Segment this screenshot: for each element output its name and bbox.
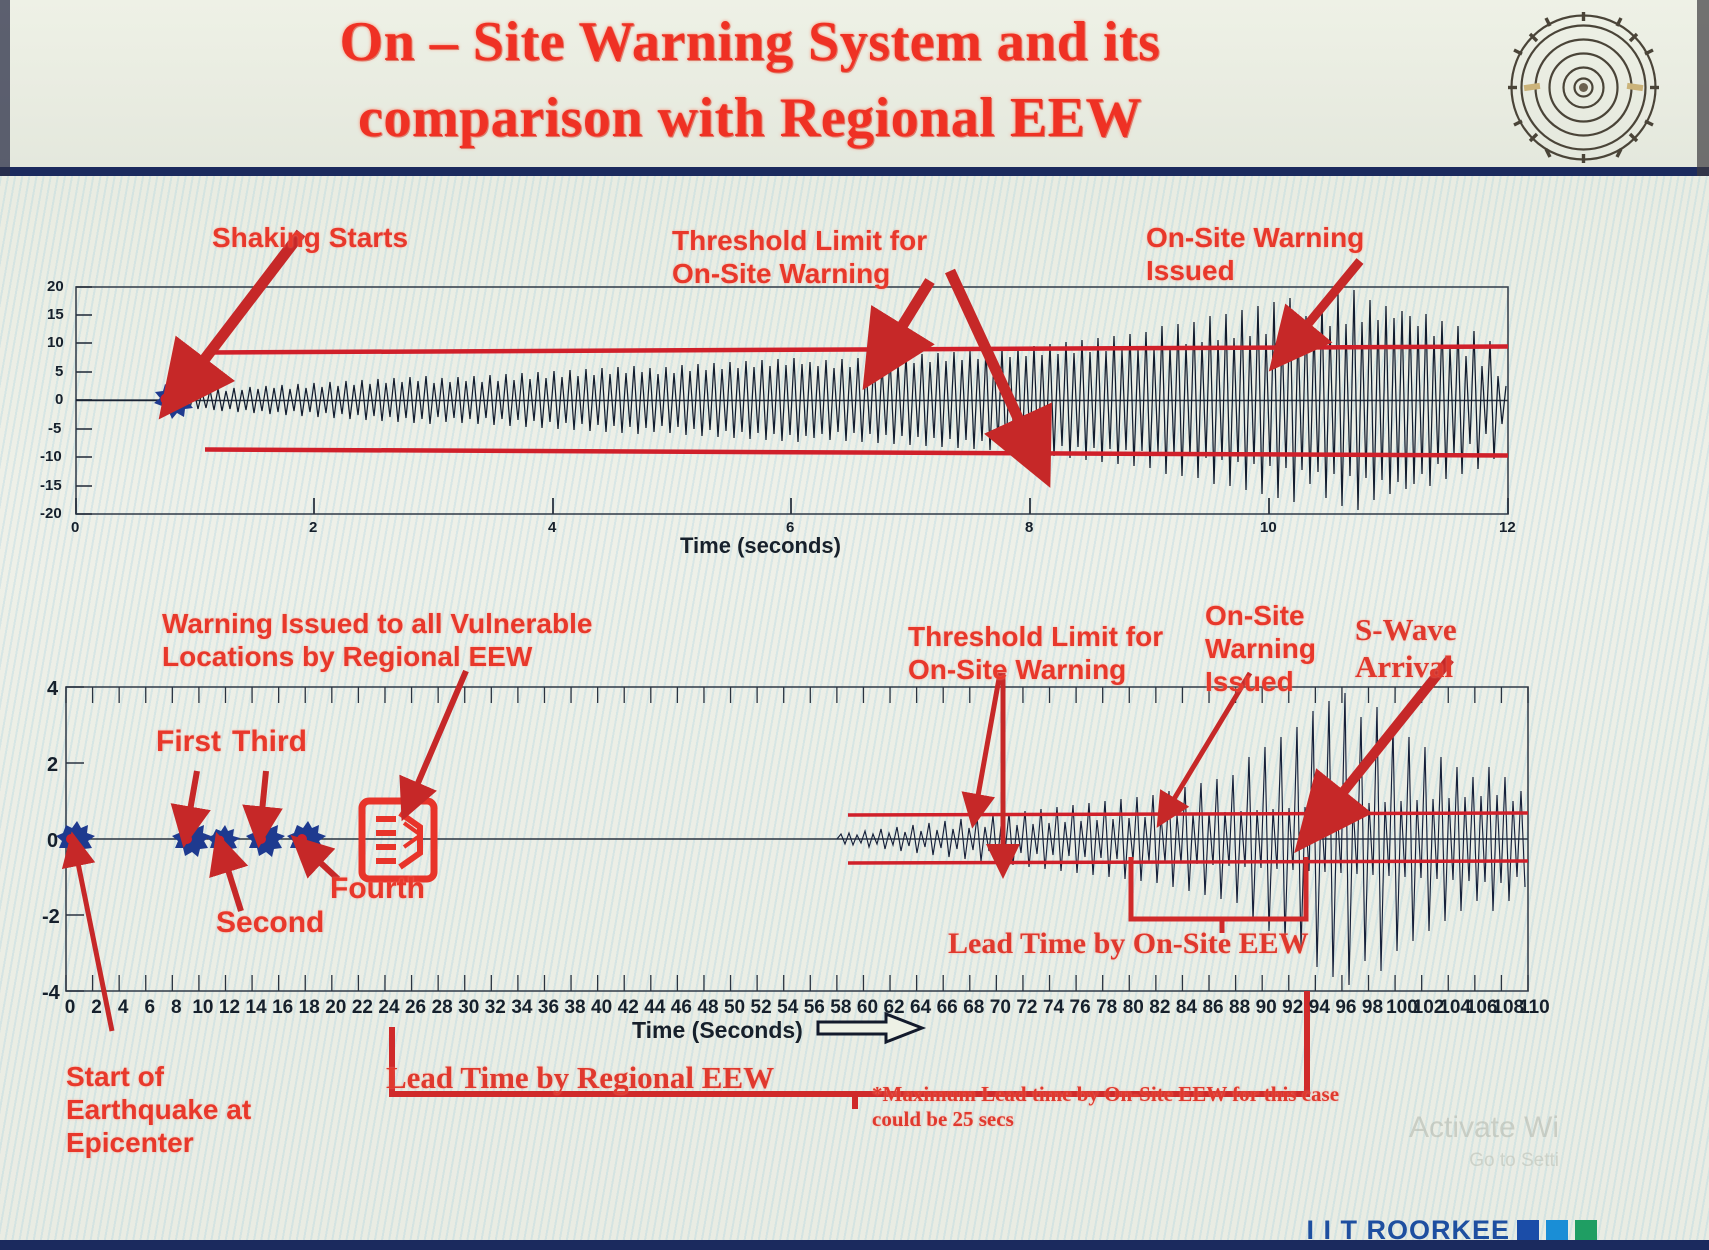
chart2-xaxis-label: Time (Seconds) [632, 1017, 803, 1044]
chart2-xtick-40: 40 [589, 997, 615, 1019]
chart2-xtick-4: 4 [110, 997, 136, 1019]
marker-first [172, 821, 211, 857]
chart2-threshold-upper [848, 813, 1528, 815]
chart2-xtick-76: 76 [1067, 997, 1093, 1019]
annotation-lead-time-onsite: Lead Time by On-Site EEW [948, 926, 1309, 962]
chart1-ytick-m10: -10 [40, 448, 62, 465]
arrow-second [224, 857, 241, 911]
slide-header: On – Site Warning System and its compari… [0, 0, 1709, 176]
footer-swatch-0 [1517, 1220, 1539, 1242]
annotation-start-of-earthquake: Start of Earthquake at Epicenter [66, 1027, 296, 1159]
chart2-xtick-66: 66 [934, 997, 960, 1019]
footer-swatch-1 [1546, 1220, 1568, 1242]
chart2-xtick-30: 30 [456, 997, 482, 1019]
chart2-xtick-10: 10 [190, 997, 216, 1019]
page-title-line2: comparison with Regional EEW [150, 80, 1350, 156]
annotation-s-wave-arrival: S-Wave Arrival [1355, 574, 1535, 686]
chart2-xtick-106: 106 [1466, 997, 1492, 1019]
marker-second [207, 825, 240, 856]
chart2-xtick-28: 28 [429, 997, 455, 1019]
chart1-ytick-m5: -5 [48, 420, 61, 437]
arrow-first [188, 771, 197, 822]
chart-on-site-seismogram: Shaking Starts Threshold Limit for On-Si… [0, 176, 1709, 561]
chart2-xtick-labels: 0246810121416182022242628303234363840424… [0, 997, 1709, 1027]
chart1-ytick-20: 20 [47, 278, 64, 295]
chart1-xtick-4: 4 [548, 519, 556, 536]
chart2-xtick-82: 82 [1147, 997, 1173, 1019]
chart1-ytick-15: 15 [47, 306, 64, 323]
header-right-edge [1697, 0, 1709, 176]
chart2-xtick-108: 108 [1492, 997, 1518, 1019]
chart1-ytick-m20: -20 [40, 505, 62, 522]
chart2-xtick-8: 8 [163, 997, 189, 1019]
annotation-lead-time-regional: Lead Time by Regional EEW [386, 1059, 774, 1096]
chart-regional-vs-onsite-timeline: Warning Issued to all Vulnerable Locatio… [0, 561, 1709, 1250]
annotation-shaking-starts: Shaking Starts [212, 221, 512, 254]
footer-bar [0, 1240, 1709, 1250]
chart2-xtick-44: 44 [642, 997, 668, 1019]
chart1-ytick-10: 10 [47, 334, 64, 351]
header-left-edge [0, 0, 10, 176]
chart1-xaxis-label: Time (seconds) [680, 533, 841, 559]
chart2-xtick-100: 100 [1386, 997, 1412, 1019]
chart2-xtick-80: 80 [1120, 997, 1146, 1019]
chart2-xtick-58: 58 [828, 997, 854, 1019]
chart2-xtick-62: 62 [881, 997, 907, 1019]
chart1-threshold-lower [205, 450, 1508, 456]
chart1-ytick-0: 0 [55, 391, 63, 408]
page-title: On – Site Warning System and its compari… [150, 4, 1350, 156]
chart2-xtick-16: 16 [270, 997, 296, 1019]
chart2-xtick-26: 26 [403, 997, 429, 1019]
chart2-xtick-20: 20 [323, 997, 349, 1019]
chart1-xtick-0: 0 [71, 519, 79, 536]
chart2-xtick-88: 88 [1227, 997, 1253, 1019]
chart2-xtick-74: 74 [1041, 997, 1067, 1019]
chart2-xtick-104: 104 [1439, 997, 1465, 1019]
chart1-xtick-2: 2 [309, 519, 317, 536]
annotation-on-site-warning-issued-1: On-Site Warning Issued [1146, 188, 1446, 287]
annotation-second: Second [216, 905, 324, 940]
marker-shaking-start [154, 382, 194, 419]
annotation-on-site-warning-issued-2: On-Site Warning Issued [1205, 566, 1365, 698]
chart2-xtick-24: 24 [376, 997, 402, 1019]
arrow-shaking-starts [188, 233, 301, 381]
chart2-xtick-54: 54 [775, 997, 801, 1019]
marker-third [246, 821, 285, 857]
chart2-ytick-2: 2 [47, 754, 58, 777]
annotation-warning-issued-regional: Warning Issued to all Vulnerable Locatio… [162, 574, 682, 673]
chart2-xtick-86: 86 [1200, 997, 1226, 1019]
chart1-ytick-m15: -15 [40, 477, 62, 494]
chart2-xtick-2: 2 [84, 997, 110, 1019]
chart2-ytick-0: 0 [47, 830, 58, 853]
chart2-xtick-0: 0 [57, 997, 83, 1019]
page-title-line1: On – Site Warning System and its [150, 4, 1350, 80]
chart2-xtick-64: 64 [908, 997, 934, 1019]
chart1-threshold-upper [205, 347, 1508, 353]
chart2-xtick-50: 50 [722, 997, 748, 1019]
annotation-threshold-limit-1: Threshold Limit for On-Site Warning [672, 191, 1002, 290]
chart2-xtick-32: 32 [482, 997, 508, 1019]
chart2-xtick-102: 102 [1413, 997, 1439, 1019]
brace-lead-time-onsite [1131, 857, 1306, 933]
chart2-threshold-lower [848, 861, 1528, 863]
chart2-xtick-42: 42 [615, 997, 641, 1019]
chart2-xtick-90: 90 [1253, 997, 1279, 1019]
annotation-first: First [156, 724, 221, 759]
chart2-xtick-38: 38 [562, 997, 588, 1019]
chart2-xtick-68: 68 [961, 997, 987, 1019]
chart2-xtick-60: 60 [854, 997, 880, 1019]
arrow-warning-issued-regional [412, 671, 466, 797]
chart2-xtick-18: 18 [296, 997, 322, 1019]
slide-canvas: On – Site Warning System and its compari… [0, 0, 1709, 1250]
chart1-xtick-12: 12 [1499, 519, 1516, 536]
chart2-xtick-70: 70 [987, 997, 1013, 1019]
chart2-xtick-48: 48 [695, 997, 721, 1019]
chart2-xtick-52: 52 [748, 997, 774, 1019]
chart2-xtick-92: 92 [1280, 997, 1306, 1019]
windows-activate-watermark-line2: Go to Setti [1469, 1150, 1559, 1172]
marker-start-of-earthquake [56, 821, 95, 857]
annotation-fourth: Fourth [330, 871, 425, 906]
chart2-xtick-96: 96 [1333, 997, 1359, 1019]
arrow-threshold-limit-1 [888, 281, 930, 349]
chart2-ytick-m2: -2 [42, 906, 60, 929]
chart2-xtick-6: 6 [137, 997, 163, 1019]
chart2-xtick-22: 22 [349, 997, 375, 1019]
chart2-xtick-14: 14 [243, 997, 269, 1019]
chart2-xtick-56: 56 [801, 997, 827, 1019]
chart2-xtick-36: 36 [535, 997, 561, 1019]
chart2-xtick-94: 94 [1306, 997, 1332, 1019]
chart2-xtick-110: 110 [1519, 997, 1545, 1019]
chart2-xtick-72: 72 [1014, 997, 1040, 1019]
chart2-xtick-78: 78 [1094, 997, 1120, 1019]
footer-swatch-2 [1575, 1220, 1597, 1242]
annotation-third: Third [232, 724, 307, 759]
chart2-xtick-12: 12 [216, 997, 242, 1019]
chart1-xtick-8: 8 [1025, 519, 1033, 536]
chart1-xtick-10: 10 [1260, 519, 1277, 536]
arrow-threshold-limit-2 [976, 673, 1000, 807]
annotation-max-lead-note: *Maximum Lead time by On-Site EEW for th… [872, 1057, 1342, 1133]
regional-eew-broadcast-icon [362, 801, 434, 879]
chart1-ytick-5: 5 [55, 363, 63, 380]
chart2-xtick-34: 34 [509, 997, 535, 1019]
chart2-ytick-4: 4 [47, 678, 58, 701]
chart2-xtick-46: 46 [668, 997, 694, 1019]
iit-roorkee-seal-logo [1506, 10, 1661, 165]
marker-fourth [287, 821, 326, 857]
chart2-xtick-98: 98 [1360, 997, 1386, 1019]
annotation-threshold-limit-2: Threshold Limit for On-Site Warning [908, 587, 1198, 686]
arrow-third [261, 771, 266, 822]
chart2-xtick-84: 84 [1173, 997, 1199, 1019]
